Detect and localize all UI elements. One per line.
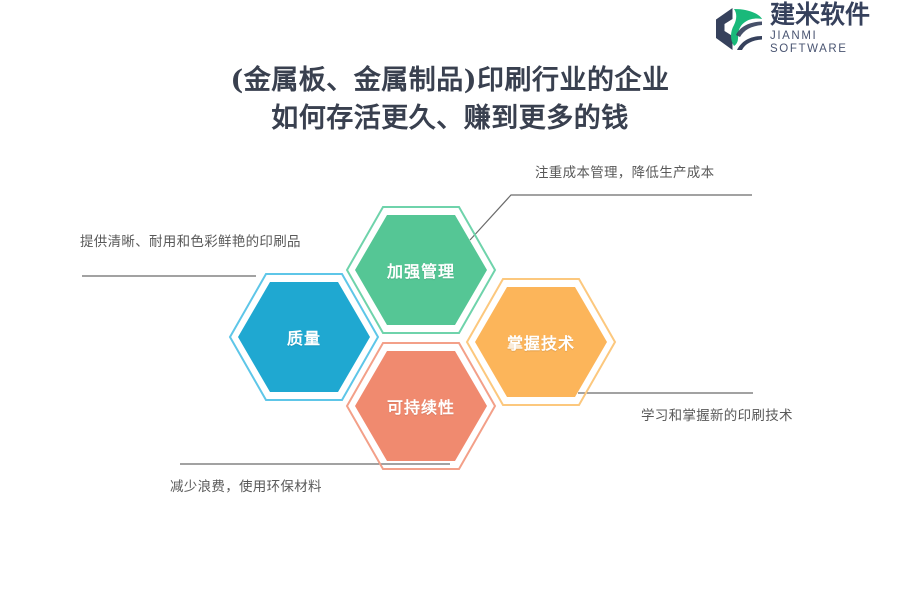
caption-management: 注重成本管理，降低生产成本	[535, 161, 714, 181]
hex-quality-label: 质量	[287, 325, 321, 349]
caption-quality: 提供清晰、耐用和色彩鲜艳的印刷品	[80, 230, 301, 250]
hex-management-label: 加强管理	[387, 258, 455, 282]
hex-node-sustainability[interactable]: 可持续性	[345, 341, 497, 471]
caption-sustainability: 减少浪费，使用环保材料	[170, 475, 322, 495]
connector-management	[470, 195, 752, 240]
hexagon-diagram: 质量 加强管理 掌握技术 可持续性 注重成本管理，降低生产成本 提供清晰、耐用和…	[0, 0, 900, 600]
hex-technology-label: 掌握技术	[507, 330, 575, 354]
caption-technology: 学习和掌握新的印刷技术	[641, 404, 793, 424]
hex-sustainability-label: 可持续性	[387, 394, 455, 418]
